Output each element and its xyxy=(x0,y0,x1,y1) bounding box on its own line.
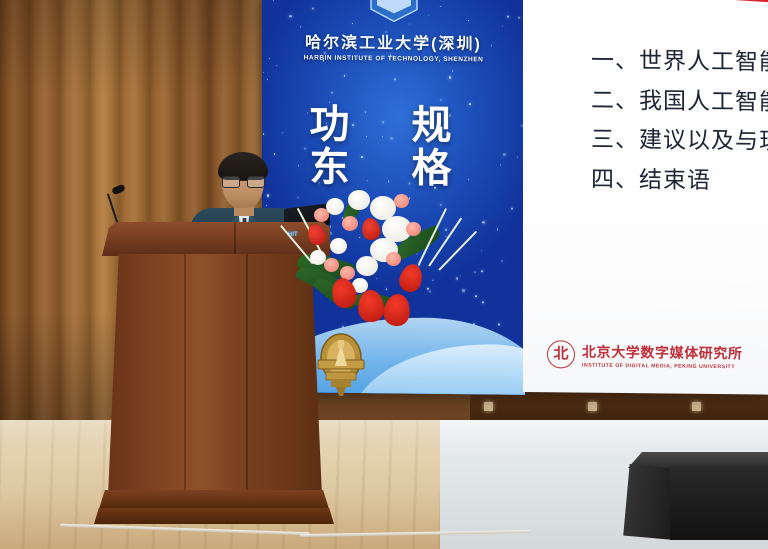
star-dot xyxy=(491,45,492,46)
pku-logo-text: 北京大学数字媒体研究所 INSTITUTE OF DIGITAL MEDIA, … xyxy=(582,341,743,370)
hit-name-cn: 哈尔滨工业大学(深圳) xyxy=(304,28,484,54)
star-dot xyxy=(475,295,477,297)
star-dot xyxy=(409,24,410,25)
white-lily xyxy=(356,256,378,276)
stage-monitor-speaker xyxy=(620,452,768,544)
white-rose xyxy=(330,238,347,254)
star-dot xyxy=(452,70,453,71)
star-dot xyxy=(517,157,518,158)
red-anthurium xyxy=(305,222,329,248)
pku-name-cn: 北京大学数字媒体研究所 xyxy=(582,341,743,363)
star-dot xyxy=(511,208,513,210)
star-dot xyxy=(502,25,504,27)
star-dot xyxy=(482,221,485,224)
glasses-icon xyxy=(222,176,265,186)
star-dot xyxy=(269,58,270,59)
calligraphy-row-1: 功 规 xyxy=(294,104,494,146)
star-dot xyxy=(440,5,441,6)
star-dot xyxy=(500,164,501,165)
star-dot xyxy=(501,260,503,262)
star-dot xyxy=(331,92,332,93)
star-dot xyxy=(468,20,469,21)
monitor-side-face xyxy=(670,466,768,540)
presentation-photo-scene: 哈尔滨工业大学(深圳) HARBIN INSTITUTE OF TECHNOLO… xyxy=(0,0,768,549)
white-lily xyxy=(348,190,370,210)
monitor-front-face xyxy=(620,464,674,540)
podium-plinth xyxy=(94,508,334,524)
slide-outline-list: 一、世界人工智能 二、我国人工智能 三、建议以及与现 四、结束语 xyxy=(551,40,768,200)
slide-right-outline: 一、世界人工智能 二、我国人工智能 三、建议以及与现 四、结束语 北 北京大学数… xyxy=(523,0,768,395)
star-dot xyxy=(344,75,346,77)
floor-cable xyxy=(300,530,530,537)
pink-rose xyxy=(324,258,339,272)
star-dot xyxy=(498,324,500,326)
star-dot xyxy=(276,65,277,66)
pku-name-en: INSTITUTE OF DIGITAL MEDIA, PEKING UNIVE… xyxy=(582,362,743,370)
star-dot xyxy=(352,23,353,24)
flower-arrangement xyxy=(296,186,466,346)
star-dot xyxy=(474,271,475,272)
podium-front-panel xyxy=(108,254,322,496)
star-dot xyxy=(300,26,302,28)
star-dot xyxy=(394,78,396,80)
star-dot xyxy=(263,72,264,73)
hit-shield-crest-icon xyxy=(363,0,425,24)
podium-panel-seam xyxy=(184,254,186,496)
slide-calligraphy: 功 规 东 格 xyxy=(294,104,494,192)
red-accent-stripe xyxy=(523,0,768,10)
star-dot xyxy=(282,132,283,133)
wall-light-icon xyxy=(692,402,701,411)
star-dot xyxy=(518,17,520,19)
star-dot xyxy=(440,99,442,101)
outline-item: 三、建议以及与现 xyxy=(591,120,768,161)
star-dot xyxy=(481,270,483,272)
outline-item: 一、世界人工智能 xyxy=(591,41,768,82)
star-dot xyxy=(289,15,291,17)
wall-light-icon xyxy=(484,402,493,411)
star-dot xyxy=(267,79,268,80)
star-dot xyxy=(481,250,482,251)
pink-rose xyxy=(386,252,401,266)
pink-rose xyxy=(406,222,421,236)
pink-rose xyxy=(394,194,409,208)
wall-light-icon xyxy=(588,402,597,411)
red-anthurium xyxy=(397,262,426,295)
star-dot xyxy=(507,15,509,17)
star-dot xyxy=(449,76,451,78)
star-dot xyxy=(428,15,429,16)
pku-seal-icon: 北 xyxy=(547,340,575,368)
pink-rose xyxy=(314,208,329,222)
star-dot xyxy=(482,301,484,303)
star-dot xyxy=(503,153,505,155)
star-dot xyxy=(273,0,274,1)
outline-item: 四、结束语 xyxy=(591,159,768,200)
star-dot xyxy=(263,133,264,134)
hit-institution-name: 哈尔滨工业大学(深圳) HARBIN INSTITUTE OF TECHNOLO… xyxy=(304,28,484,63)
outline-item: 二、我国人工智能 xyxy=(591,80,768,121)
pku-institute-logo: 北 北京大学数字媒体研究所 INSTITUTE OF DIGITAL MEDIA… xyxy=(547,340,743,370)
podium-panel-seam xyxy=(246,254,248,496)
star-dot xyxy=(312,8,314,10)
star-dot xyxy=(497,229,499,231)
pink-rose xyxy=(342,216,358,231)
